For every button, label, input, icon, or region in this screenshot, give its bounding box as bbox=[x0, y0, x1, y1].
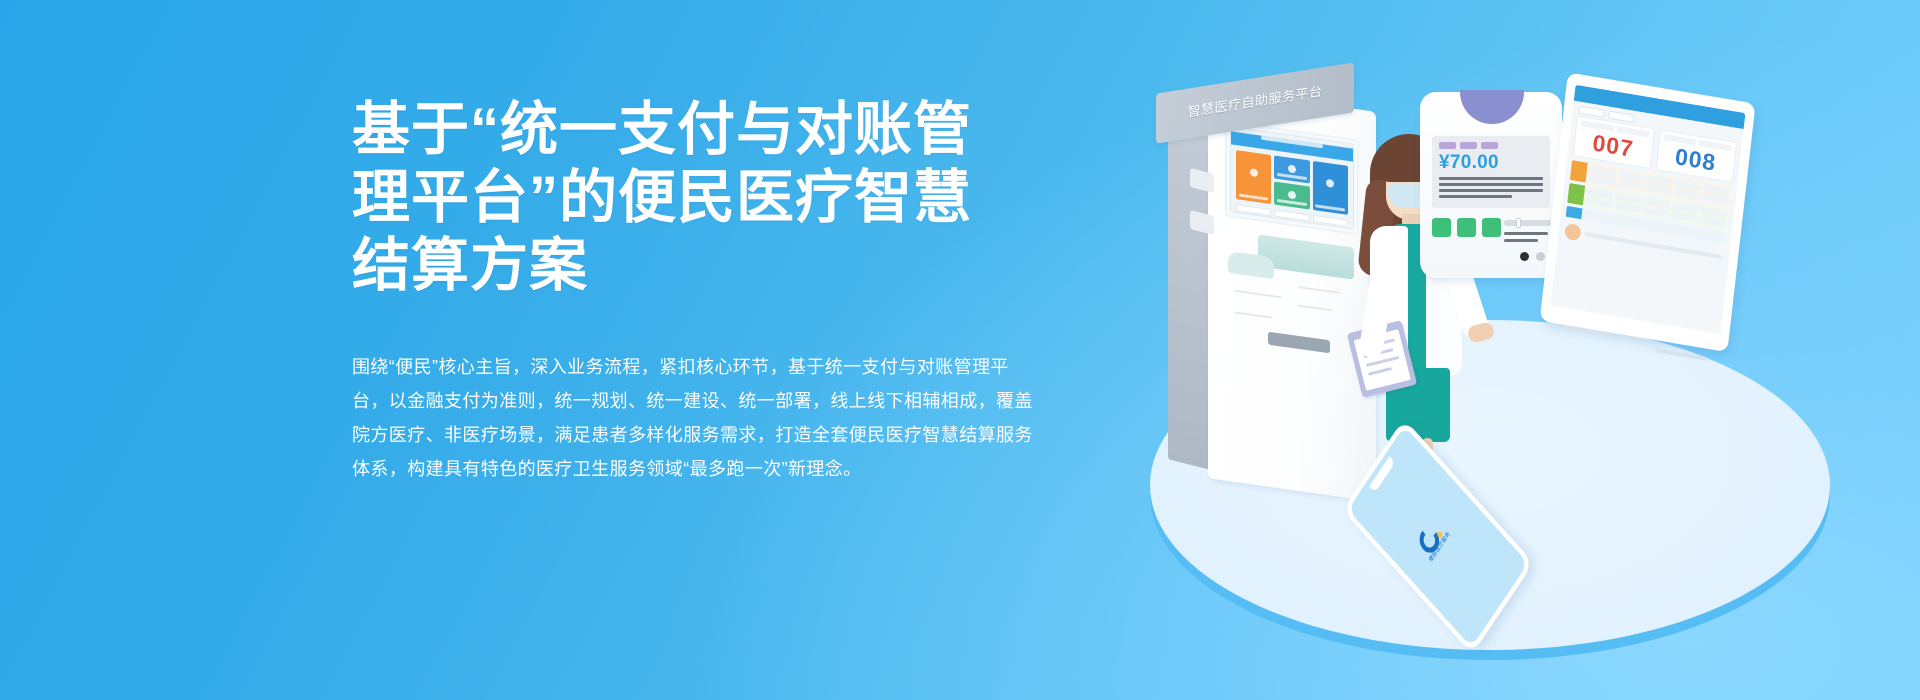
description-line-1: 围绕“便民”核心主旨，深入业务流程，紧扣核心环节，基于统一支付与对账管理平 bbox=[352, 350, 1112, 384]
kiosk-tile-appointment bbox=[1274, 156, 1309, 184]
receipt-line-3 bbox=[1439, 189, 1543, 192]
title-line-1: 基于“统一支付与对账管 bbox=[352, 96, 1122, 164]
payment-amount: ¥70.00 bbox=[1432, 149, 1550, 174]
payment-terminal-screen: ¥70.00 bbox=[1432, 136, 1550, 208]
clipboard-line-4 bbox=[1368, 367, 1392, 376]
kiosk-tile-appointment-label bbox=[1277, 173, 1307, 180]
tag-3 bbox=[1481, 142, 1498, 149]
terminal-bar-1 bbox=[1504, 232, 1548, 235]
avatar bbox=[1564, 223, 1582, 242]
document-icon bbox=[1326, 178, 1334, 187]
title-line-3: 结算方案 bbox=[352, 232, 1122, 300]
app-logo-icon: 便民医疗服务 bbox=[1412, 503, 1459, 565]
plus-icon bbox=[1250, 168, 1258, 177]
terminal-indicator-dots bbox=[1520, 252, 1545, 261]
tag-1 bbox=[1439, 142, 1456, 149]
receipt-line-4 bbox=[1439, 195, 1512, 198]
kiosk-tile-payment-label bbox=[1277, 199, 1307, 206]
queue-board-screen: 007 008 bbox=[1550, 85, 1745, 334]
title-line-2: 理平台”的便民医疗智慧 bbox=[352, 164, 1122, 232]
keypad-key-3 bbox=[1482, 218, 1501, 237]
kiosk-screen bbox=[1230, 126, 1354, 229]
queue-display-board: 007 008 bbox=[1539, 72, 1766, 363]
kiosk-tile-payment bbox=[1274, 182, 1309, 210]
payment-terminal-tags bbox=[1432, 136, 1550, 149]
user-icon bbox=[1288, 165, 1296, 174]
keypad-key-2 bbox=[1457, 218, 1476, 237]
tag-2 bbox=[1460, 142, 1477, 149]
queue-row-blue-label bbox=[1566, 206, 1583, 220]
kiosk-tile-report bbox=[1313, 161, 1348, 215]
receipt-line-1 bbox=[1439, 177, 1543, 180]
payment-terminal-keys bbox=[1432, 218, 1501, 237]
page-title: 基于“统一支付与对账管 理平台”的便民医疗智慧 结算方案 bbox=[352, 96, 1122, 300]
page-description: 围绕“便民”核心主旨，深入业务流程，紧扣核心环节，基于统一支付与对账管理平 台，… bbox=[352, 350, 1112, 486]
kiosk-tile-register bbox=[1236, 150, 1271, 204]
description-line-2: 台，以金融支付为准则，统一规划、统一建设、统一部署，线上线下相辅相成，覆盖 bbox=[352, 384, 1112, 418]
description-line-3: 院方医疗、非医疗场景，满足患者多样化服务需求，打造全套便民医疗智慧结算服务 bbox=[352, 418, 1112, 452]
hero-copy: 基于“统一支付与对账管 理平台”的便民医疗智慧 结算方案 围绕“便民”核心主旨，… bbox=[352, 96, 1122, 486]
keypad-key-1 bbox=[1432, 218, 1451, 237]
wallet-icon bbox=[1288, 191, 1296, 200]
description-line-4: 体系，构建具有特色的医疗卫生服务领域“最多跑一次”新理念。 bbox=[352, 452, 1112, 486]
terminal-bar-2 bbox=[1504, 239, 1538, 242]
kiosk-tile-register-label bbox=[1239, 194, 1269, 201]
indicator-dot-inactive bbox=[1536, 252, 1545, 261]
hero-illustration: 智慧医疗自助服务平台 bbox=[1120, 30, 1880, 650]
indicator-dot-active bbox=[1520, 252, 1529, 261]
terminal-slider bbox=[1504, 220, 1552, 226]
receipt-line-2 bbox=[1439, 183, 1543, 186]
kiosk-tile-report-label bbox=[1315, 204, 1345, 211]
kiosk-screen-header-bar bbox=[1261, 136, 1323, 149]
hero-banner: 基于“统一支付与对账管 理平台”的便民医疗智慧 结算方案 围绕“便民”核心主旨，… bbox=[0, 0, 1920, 700]
